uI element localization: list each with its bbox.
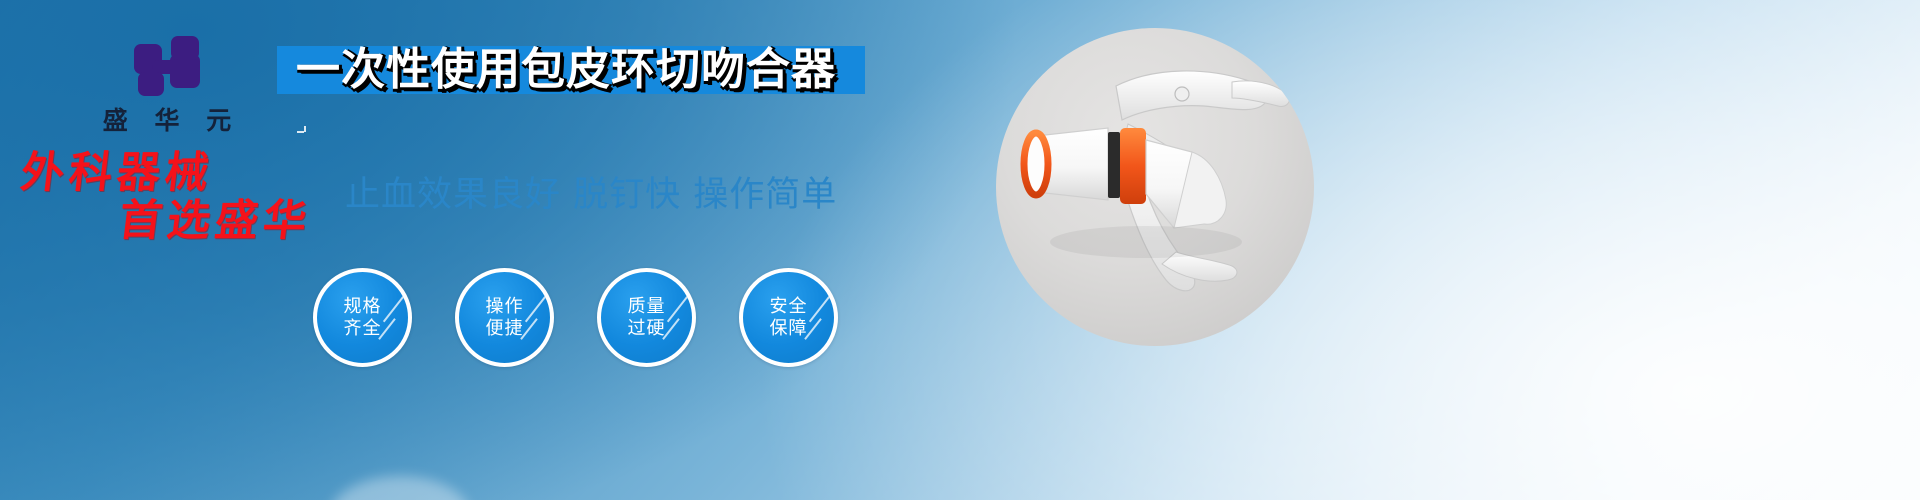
subtitle: 止血效果良好 脱钉快 操作简单 — [345, 166, 837, 217]
slash-decoration-icon — [667, 290, 693, 323]
feature-badge-line-1: 质量 — [628, 296, 666, 318]
product-banner: 盛 华 元 外科器械 首选盛华 一次性使用包皮环切吻合器 止血效果良好 脱钉快 … — [0, 0, 1920, 500]
feature-badge-line-1: 规格 — [344, 296, 382, 318]
feature-badge-list: 规格 齐全 操作 便捷 质量 过硬 安全 保障 — [313, 268, 838, 367]
product-photo — [996, 28, 1314, 346]
slogan-line-2: 首选盛华 — [116, 200, 313, 244]
feature-badge-line-2: 过硬 — [628, 318, 666, 340]
feature-badge-quality[interactable]: 质量 过硬 — [597, 268, 696, 367]
shenghuayuan-blocks-logo-icon — [134, 36, 200, 96]
brand-name: 盛 华 元 — [72, 108, 262, 133]
feature-badge-specifications[interactable]: 规格 齐全 — [313, 268, 412, 367]
background-glow — [330, 476, 470, 500]
feature-badge-line-1: 操作 — [486, 296, 524, 318]
feature-badge-operation[interactable]: 操作 便捷 — [455, 268, 554, 367]
feature-badge-line-2: 便捷 — [486, 318, 524, 340]
page-title: 一次性使用包皮环切吻合器 — [296, 44, 896, 96]
feature-badge-line-2: 齐全 — [344, 318, 382, 340]
red-calligraphy-slogan: 外科器械 首选盛华 — [12, 152, 319, 244]
feature-badge-line-1: 安全 — [770, 296, 808, 318]
slash-decoration-icon — [525, 290, 551, 323]
slogan-line-1: 外科器械 — [18, 148, 216, 198]
brand-logo[interactable]: 盛 华 元 — [72, 36, 262, 133]
sparkle-decoration — [297, 131, 304, 133]
circumcision-stapler-illustration — [996, 28, 1314, 346]
feature-badge-line-2: 保障 — [770, 318, 808, 340]
sparkle-decoration — [304, 126, 306, 132]
slash-decoration-icon — [383, 290, 409, 323]
feature-badge-safety[interactable]: 安全 保障 — [739, 268, 838, 367]
slash-decoration-icon — [809, 290, 835, 323]
